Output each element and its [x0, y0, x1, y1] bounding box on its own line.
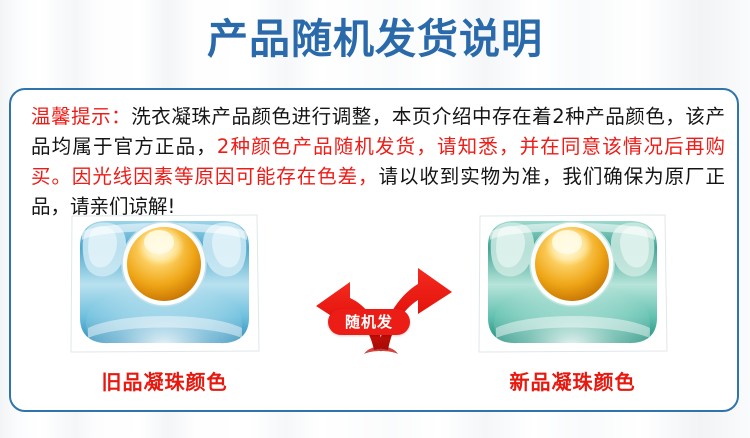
old-product-label: 旧品凝珠颜色	[58, 366, 271, 395]
old-product-image	[58, 206, 271, 358]
new-product-label: 新品凝珠颜色	[466, 366, 679, 395]
blue-pod-icon	[58, 206, 271, 358]
page-title: 产品随机发货说明	[0, 10, 750, 68]
random-dispatch-badge: 随机发	[328, 309, 410, 335]
notice-paragraph: 温馨提示：洗衣凝珠产品颜色进行调整，本页介绍中存在着2种产品颜色，该产品均属于官…	[31, 102, 725, 222]
new-product-image	[466, 206, 679, 358]
notice-card: 温馨提示：洗衣凝珠产品颜色进行调整，本页介绍中存在着2种产品颜色，该产品均属于官…	[9, 88, 739, 412]
product-random-shipping-notice-page: 产品随机发货说明 温馨提示：洗衣凝珠产品颜色进行调整，本页介绍中存在着2种产品颜…	[0, 0, 750, 438]
random-fork-arrow	[306, 240, 456, 360]
teal-pod-icon	[466, 206, 679, 358]
notice-label: 温馨提示：	[31, 105, 131, 128]
fork-arrow-icon	[306, 240, 456, 360]
